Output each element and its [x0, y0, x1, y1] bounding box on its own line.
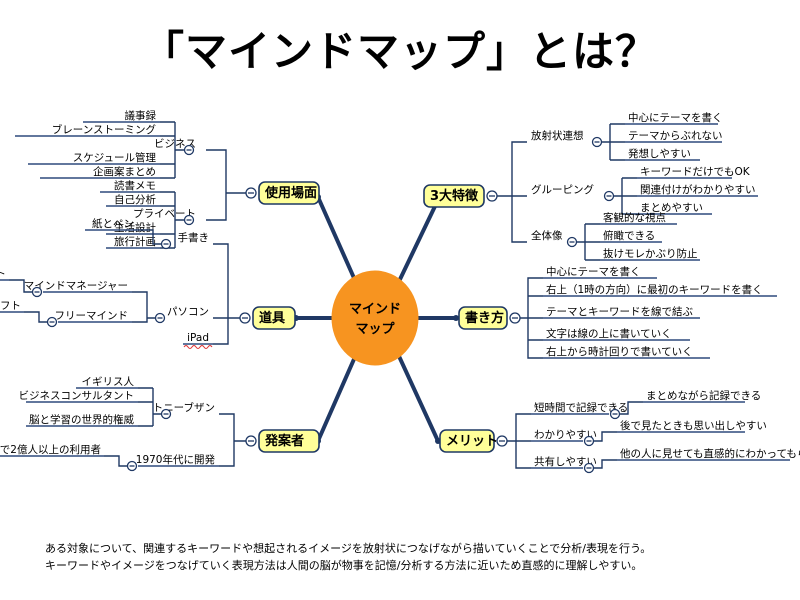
leaf-label[interactable]: 有償ソフト [0, 267, 6, 280]
branch-node-inventor-label: 発案者 [264, 433, 304, 449]
branch-node-usage[interactable]: 使用場面 [259, 182, 319, 204]
sub-node-overview-label[interactable]: 全体像 [531, 229, 563, 242]
leaf-label[interactable]: 他の人に見せても直感的にわかってもらえる [620, 447, 800, 460]
branch-node-usage-label: 使用場面 [264, 185, 317, 201]
branch-merit: メリット 短時間で記録できる まとめながら記録できる わかりやすい 後で見たとき… [440, 389, 800, 473]
toggle-mindmanager[interactable] [33, 288, 42, 297]
branch-node-howto-label: 書き方 [465, 310, 504, 326]
tools-spine [213, 244, 240, 344]
leaf-label[interactable]: 中心にテーマを書く [546, 265, 641, 278]
leaf-label[interactable]: ビジネスコンサルタント [19, 390, 135, 402]
center-node-label-line1: マインド [349, 302, 401, 317]
leaf-label[interactable]: 後で見たときも思い出しやすい [620, 419, 767, 432]
sub-node-pc-label[interactable]: パソコン [167, 306, 209, 318]
branch-node-tools-label: 道具 [259, 310, 285, 326]
leaf-label[interactable]: 抜けモレかぶり防止 [603, 247, 698, 260]
toggle-merit[interactable] [497, 436, 507, 446]
features-spine [497, 142, 527, 242]
toggle-tools[interactable] [240, 313, 250, 323]
branch-howto: 書き方 中心にテーマを書く 右上（1時の方向）に最初のキーワードを書く テーマと… [459, 265, 777, 358]
caption-line-1: ある対象について、関連するキーワードや想起されるイメージを放射状につなげながら描… [45, 540, 765, 557]
center-node[interactable]: マインド マップ [332, 271, 418, 365]
branch-node-howto[interactable]: 書き方 [459, 307, 507, 329]
sub-node-ipad-label[interactable]: iPad [187, 332, 209, 344]
toggle-share[interactable] [585, 464, 594, 473]
leaf-label[interactable]: イギリス人 [82, 376, 135, 388]
slide-canvas: 「マインドマップ」とは？ マインド マップ 使 [0, 0, 800, 600]
leaf-label[interactable]: キーワードだけでもOK [640, 166, 751, 178]
sub-node-handwrite-label[interactable]: 手書き [178, 231, 210, 244]
leaf-label[interactable]: 自己分析 [114, 193, 156, 206]
leaf-label[interactable]: 無料ソフト [0, 299, 21, 312]
branch-node-merit-label: メリット [446, 434, 498, 449]
slide-caption: ある対象について、関連するキーワードや想起されるイメージを放射状につなげながら描… [45, 540, 765, 574]
mindmap-diagram: マインド マップ 使用場面 ビジネス 議事録 ブレーンストーミング [0, 100, 800, 500]
mindmap-svg: マインド マップ 使用場面 ビジネス 議事録 ブレーンストーミング [0, 100, 800, 500]
leaf-label[interactable]: 俯瞰できる [603, 229, 655, 242]
toggle-howto[interactable] [510, 313, 520, 323]
leaf-label[interactable]: 議事録 [125, 109, 157, 122]
center-node-shape [332, 271, 418, 365]
toggle-features[interactable] [487, 191, 497, 201]
leaf-label[interactable]: テーマからぶれない [628, 130, 723, 142]
leaf-label[interactable]: 発想しやすい [628, 147, 691, 160]
toggle-pc[interactable] [156, 314, 165, 323]
branch-inventor: 発案者 トニーブザン イギリス人 ビジネスコンサルタント 脳と学習の世界的権威 … [0, 376, 319, 471]
branch-features: 3大特徴 放射状連想 中心にテーマを書く テーマからぶれない 発想しやすい グル… [424, 111, 758, 260]
toggle-grouping[interactable] [605, 192, 614, 201]
toggle-private[interactable] [185, 216, 194, 225]
leaf-label[interactable]: 企画案まとめ [93, 165, 156, 178]
toggle-fast[interactable] [611, 410, 620, 419]
branch-usage: 使用場面 ビジネス 議事録 ブレーンストーミング スケジュール管理 企画案まとめ [15, 109, 319, 248]
toggle-handwrite[interactable] [162, 240, 171, 249]
sub-node-developed-label[interactable]: 1970年代に開発 [136, 453, 216, 466]
toggle-easy[interactable] [585, 437, 594, 446]
leaf-label[interactable]: ブレーンストーミング [52, 123, 157, 136]
merit-spine [507, 414, 531, 468]
branch-node-inventor[interactable]: 発案者 [259, 430, 319, 452]
leaf-label[interactable]: 読書メモ [114, 179, 156, 192]
center-node-label-line2: マップ [355, 322, 395, 337]
branch-node-tools[interactable]: 道具 [253, 307, 295, 329]
toggle-usage[interactable] [246, 188, 256, 198]
leaf-label[interactable]: 旅行計画 [114, 235, 156, 248]
toggle-tonybuzan[interactable] [162, 410, 171, 419]
leaf-label[interactable]: テーマとキーワードを線で結ぶ [546, 305, 693, 318]
leaf-label[interactable]: スケジュール管理 [73, 151, 157, 164]
leaf-label[interactable]: 関連付けがわかりやすい [640, 183, 756, 196]
toggle-business[interactable] [185, 146, 194, 155]
branch-node-merit[interactable]: メリット [440, 430, 498, 452]
sub-node-freemind-label[interactable]: フリーマインド [55, 310, 129, 322]
toggle-overview[interactable] [568, 238, 577, 247]
sub-node-radial-label[interactable]: 放射状連想 [531, 129, 584, 142]
branch-node-features-label: 3大特徴 [430, 188, 479, 204]
usage-spine [206, 150, 246, 220]
toggle-freemind[interactable] [48, 318, 57, 327]
leaf-label[interactable]: 世界で2億人以上の利用者 [0, 443, 101, 456]
leaf-label[interactable]: まとめながら記録できる [646, 389, 761, 402]
page-title: 「マインドマップ」とは？ [0, 18, 800, 79]
leaf-label[interactable]: 右上（1時の方向）に最初のキーワードを書く [546, 283, 763, 296]
leaf-label[interactable]: 右上から時計回りで書いていく [546, 345, 693, 358]
toggle-developed[interactable] [128, 462, 137, 471]
leaf-label[interactable]: 紙とペン [92, 217, 134, 230]
leaf-label[interactable]: 文字は線の上に書いていく [546, 327, 672, 340]
toggle-inventor[interactable] [246, 436, 256, 446]
business-spine [175, 122, 184, 178]
caption-line-2: キーワードやイメージをつなげていく表現方法は人間の脳が物事を記憶/分析する方法に… [45, 557, 765, 574]
leaf-label[interactable]: 客観的な視点 [603, 211, 666, 224]
leaf-label[interactable]: 中心にテーマを書く [628, 111, 723, 124]
branch-node-features[interactable]: 3大特徴 [424, 185, 484, 207]
leaf-label[interactable]: 脳と学習の世界的権威 [29, 413, 134, 426]
sub-node-grouping-label[interactable]: グルーピング [531, 183, 594, 196]
spellcheck-squiggle-icon [184, 346, 212, 349]
inventor-spine [219, 414, 246, 466]
toggle-radial[interactable] [593, 138, 602, 147]
